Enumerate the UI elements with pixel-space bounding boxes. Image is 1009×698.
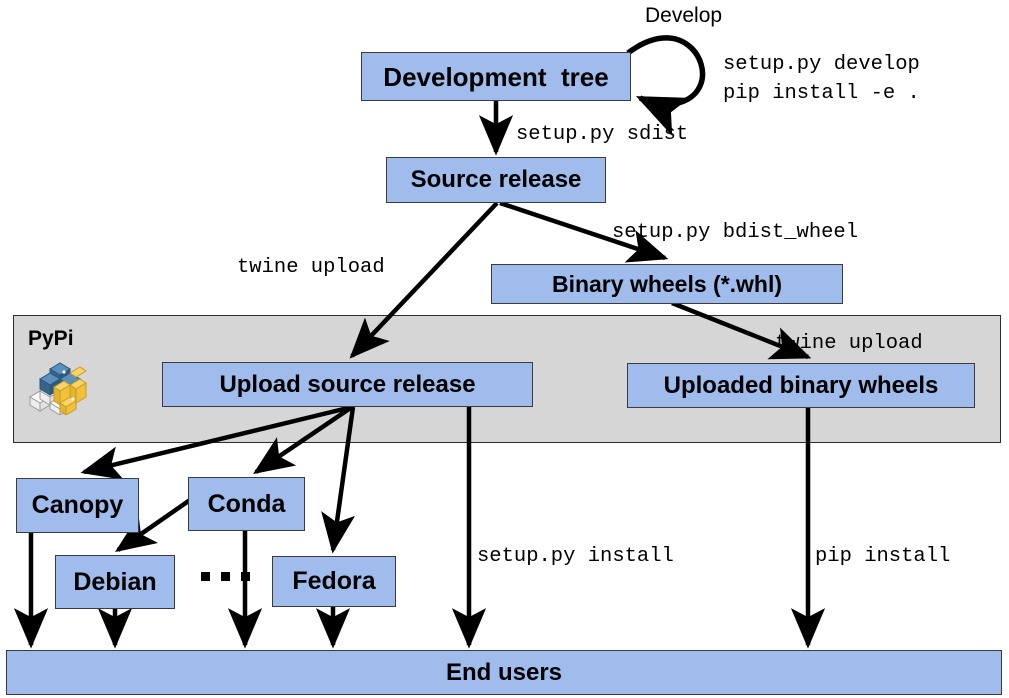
node-conda[interactable]: Conda <box>188 477 305 531</box>
python-logo <box>26 357 88 415</box>
node-canopy[interactable]: Canopy <box>16 478 139 533</box>
label-pip-install: pip install <box>815 544 950 570</box>
node-debian[interactable]: Debian <box>55 555 175 609</box>
node-upload-source-release[interactable]: Upload source release <box>162 362 533 407</box>
ellipsis-dot-3 <box>241 572 250 581</box>
edge-develop-loop <box>628 38 703 104</box>
label-twine-upload-wheels: twine upload <box>775 331 923 357</box>
node-binary-wheels[interactable]: Binary wheels (*.whl) <box>491 264 843 304</box>
label-setup-py-develop: setup.py develop <box>723 52 920 78</box>
label-develop: Develop <box>645 4 722 28</box>
label-twine-upload-source: twine upload <box>237 255 385 281</box>
label-setup-py-bdist-wheel: setup.py bdist_wheel <box>612 220 858 246</box>
pypi-group-label: PyPi <box>28 327 74 351</box>
node-uploaded-binary-wheels[interactable]: Uploaded binary wheels <box>627 363 975 408</box>
ellipsis-dot-2 <box>221 572 230 581</box>
node-fedora[interactable]: Fedora <box>272 556 396 607</box>
label-setup-py-sdist: setup.py sdist <box>516 122 688 148</box>
node-development-tree[interactable]: Development tree <box>361 52 631 101</box>
node-end-users[interactable]: End users <box>6 650 1002 695</box>
label-pip-install-editable: pip install -e . <box>723 81 920 107</box>
node-source-release[interactable]: Source release <box>386 157 606 203</box>
label-setup-py-install: setup.py install <box>477 544 674 570</box>
ellipsis-dot-1 <box>201 572 210 581</box>
diagram-canvas: PyPi <box>0 0 1009 698</box>
ellipsis-dots <box>201 572 250 581</box>
